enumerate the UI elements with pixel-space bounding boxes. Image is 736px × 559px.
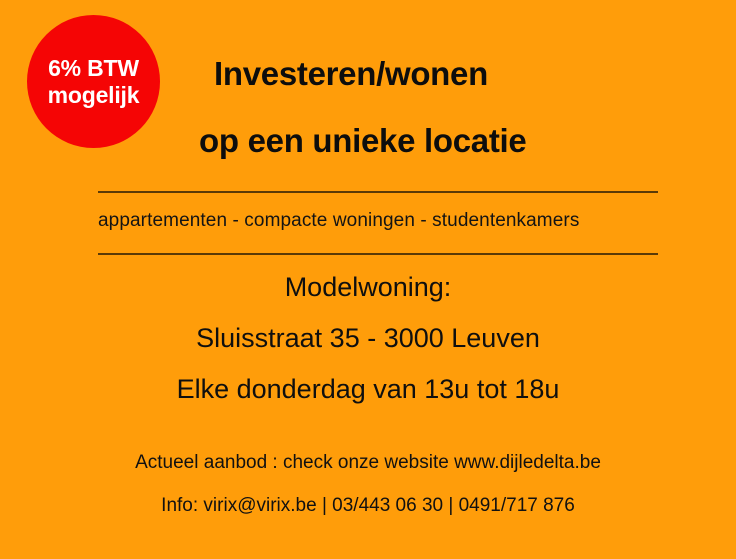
btw-badge-line-1: 6% BTW bbox=[48, 55, 139, 82]
contact-line: Info: virix@virix.be | 03/443 06 30 | 04… bbox=[0, 495, 736, 517]
divider-top bbox=[98, 191, 658, 193]
website-line: Actueel aanbod : check onze website www.… bbox=[0, 452, 736, 474]
btw-badge-line-2: mogelijk bbox=[48, 82, 140, 109]
headline-primary: Investeren/wonen bbox=[214, 55, 488, 93]
btw-badge: 6% BTW mogelijk bbox=[27, 15, 160, 148]
product-types-line: appartementen - compacte woningen - stud… bbox=[98, 210, 658, 232]
headline-secondary: op een unieke locatie bbox=[199, 122, 526, 160]
showhome-address: Sluisstraat 35 - 3000 Leuven bbox=[0, 323, 736, 354]
advertisement-poster: 6% BTW mogelijk Investeren/wonen op een … bbox=[0, 0, 736, 559]
showhome-label: Modelwoning: bbox=[0, 272, 736, 303]
showhome-opening-hours: Elke donderdag van 13u tot 18u bbox=[0, 374, 736, 405]
divider-bottom bbox=[98, 253, 658, 255]
